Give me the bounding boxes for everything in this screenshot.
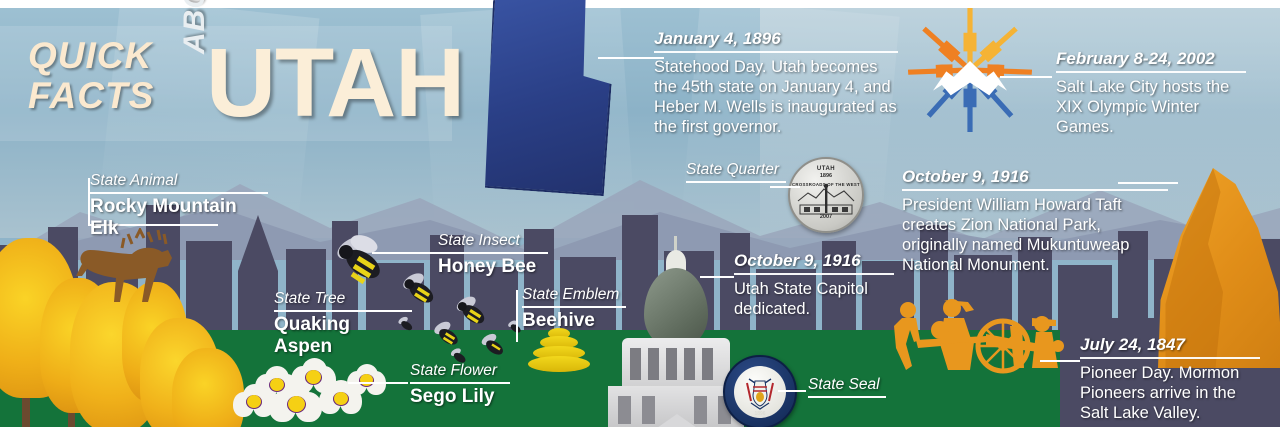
capitol-column [666,348,677,380]
callout-date: January 4, 1896 [654,28,898,51]
hive-band [528,356,590,372]
state-quarter-coin: UTAH 1896 CROSSROADS OF THE WEST 2007 [788,157,864,233]
callout-body: Utah State Capitol dedicated. [734,279,894,319]
label-state-flower: State Flower Sego Lily [410,362,510,408]
title-utah: UTAH [206,34,464,131]
leader-line-quarter [770,186,800,188]
leader-line-insect [372,252,438,254]
capitol-arch [694,396,707,424]
symbol-title: State Emblem [522,286,626,306]
seal-year: 1896 [725,411,795,417]
sego-lily-flower-icon [232,384,276,424]
capitol-arch [618,396,631,424]
callout-date: October 9, 1916 [902,166,1168,189]
callout-statehood: January 4, 1896 Statehood Day. Utah beco… [654,28,898,137]
callout-pioneer: July 24, 1847 Pioneer Day. Mormon Pionee… [1080,334,1260,423]
symbol-rule [438,252,548,254]
callout-olympics: February 8-24, 2002 Salt Lake City hosts… [1056,48,1246,137]
title-line-quick: QUICK [28,36,178,76]
callout-capitol: October 9, 1916 Utah State Capitol dedic… [734,250,894,319]
symbol-title: State Quarter [686,161,786,181]
symbol-rule [808,396,886,398]
symbol-title: State Seal [808,376,886,396]
callout-body: Salt Lake City hosts the XIX Olympic Win… [1056,77,1246,137]
quick-facts-text: QUICK FACTS [28,36,178,116]
callout-body: Statehood Day. Utah becomes the 45th sta… [654,57,898,137]
callout-rule [734,273,894,275]
olympic-ray [964,8,977,70]
title-block: QUICK FACTS ABOUT UTAH [20,30,450,140]
symbol-name: Beehive [522,310,626,332]
elk-silhouette-icon [62,228,202,320]
callout-rule [1056,71,1246,73]
lily-center [247,395,261,408]
leader-line-flower [348,382,408,384]
symbol-title: State Animal [90,172,268,192]
capitol-column [630,348,641,380]
symbol-name: Honey Bee [438,256,548,278]
capitol-column [684,348,695,380]
label-state-animal: State Animal Rocky Mountain Elk [90,172,268,240]
callout-body: Pioneer Day. Mormon Pioneers arrive in t… [1080,363,1260,423]
callout-rule [902,189,1168,191]
honey-bee-icon [330,230,398,288]
label-state-tree: State Tree Quaking Aspen [274,290,412,358]
symbol-name: Rocky Mountain Elk [90,196,268,240]
callout-date: October 9, 1916 [734,250,894,273]
title-line-facts: FACTS [28,76,178,116]
capitol-arch [642,396,655,424]
leader-line-capitol [700,276,734,278]
symbol-rule [686,181,786,183]
sego-lily-flower-icon [268,382,324,427]
leader-line-emblem [516,290,518,342]
symbol-title: State Tree [274,290,412,310]
label-state-seal: State Seal [808,376,886,400]
label-state-insect: State Insect Honey Bee [438,232,548,278]
leader-line-olympics [1000,76,1052,78]
symbol-rule [410,382,510,384]
capitol-column [702,348,713,380]
pioneer-handcart-icon [890,296,1080,391]
callout-zion: October 9, 1916 President William Howard… [902,166,1168,275]
quarter-engraving [790,159,862,231]
callout-date: February 8-24, 2002 [1056,48,1246,71]
capitol-column [648,348,659,380]
callout-rule [654,51,898,53]
capitol-dome [644,268,708,346]
leader-line-seal [778,390,806,392]
symbol-title: State Flower [410,362,510,382]
symbol-rule [90,192,268,194]
quarter-mint-year: 2007 [790,214,862,220]
leader-line-pioneer [1040,360,1080,362]
callout-date: July 24, 1847 [1080,334,1260,357]
lily-center [360,374,373,386]
symbol-name: Sego Lily [410,386,510,408]
symbol-rule [522,306,626,308]
callout-body: President William Howard Taft creates Zi… [902,195,1168,275]
infographic-canvas: QUICK FACTS ABOUT UTAH [0,0,1280,427]
label-state-quarter: State Quarter [686,161,786,185]
lily-center [288,396,305,412]
label-state-emblem: State Emblem Beehive [522,286,626,332]
symbol-name: Quaking Aspen [274,314,412,358]
callout-rule [1080,357,1260,359]
symbol-title: State Insect [438,232,548,252]
beehive-icon [528,328,590,372]
symbol-rule [274,310,412,312]
olympic-snowflake-icon [905,5,1035,135]
